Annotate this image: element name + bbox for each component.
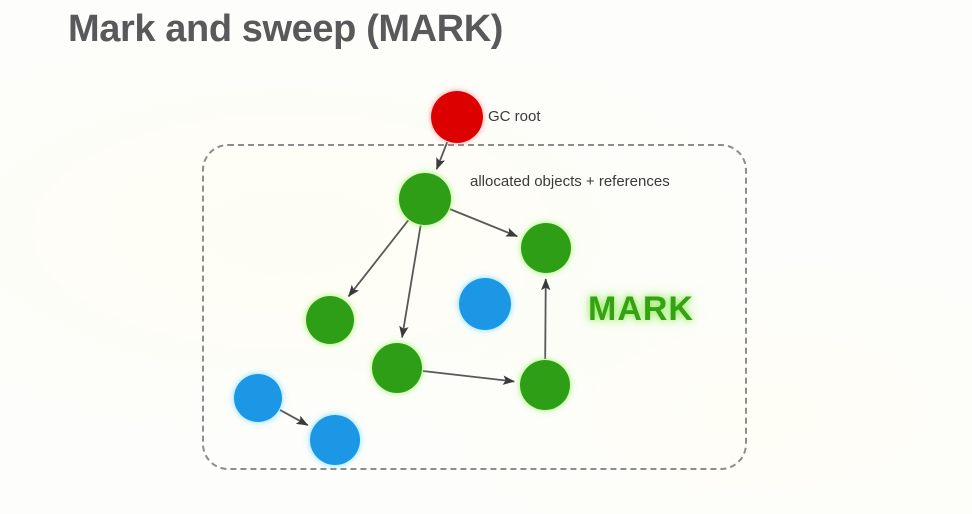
object-node-g2	[521, 223, 571, 273]
mark-phase-label: MARK	[588, 290, 694, 329]
object-node-b1	[459, 278, 511, 330]
object-node-g3	[306, 296, 354, 344]
object-node-root	[431, 91, 483, 143]
object-graph	[0, 0, 972, 514]
reference-edge	[545, 279, 546, 359]
reference-edge	[280, 410, 308, 425]
gc-root-label: GC root	[488, 108, 541, 125]
slide-canvas: Mark and sweep (MARK)	[0, 0, 972, 514]
object-nodes	[234, 91, 571, 465]
reference-edge	[349, 220, 409, 296]
reference-edge	[423, 371, 514, 381]
object-node-g4	[372, 343, 422, 393]
object-node-g1	[399, 173, 451, 225]
object-node-b3	[310, 415, 360, 465]
reference-edge	[437, 142, 448, 169]
reference-edge	[450, 209, 517, 236]
reference-edge	[402, 226, 421, 338]
allocated-objects-label: allocated objects + references	[470, 173, 670, 190]
object-node-b2	[234, 374, 282, 422]
object-node-g5	[520, 360, 570, 410]
